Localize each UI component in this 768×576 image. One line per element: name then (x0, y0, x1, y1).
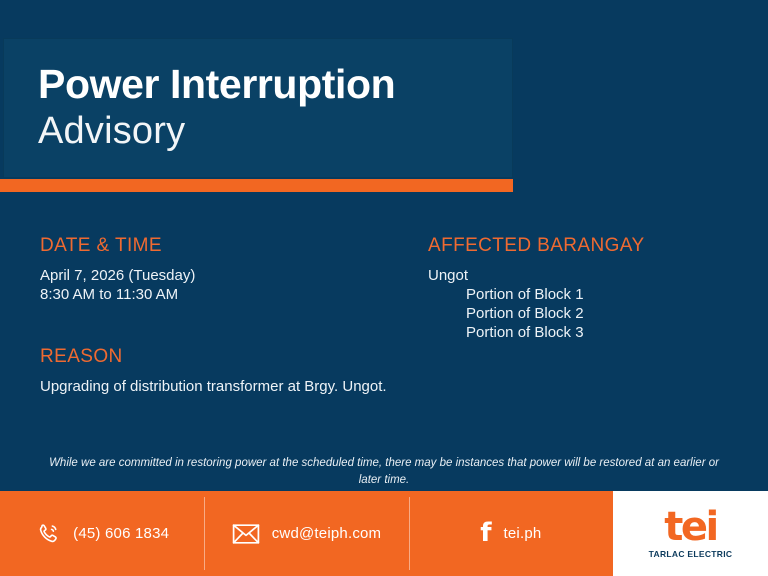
contact-facebook[interactable]: f tei.ph (409, 491, 613, 576)
reason-heading: REASON (40, 346, 390, 369)
page-subtitle: Advisory (38, 112, 185, 150)
list-item: Portion of Block 1 (466, 285, 738, 304)
advisory-poster: Power Interruption Advisory DATE & TIME … (0, 0, 768, 576)
phone-label: (45) 606 1834 (73, 525, 169, 542)
affected-barangay-heading: AFFECTED BARANGAY (428, 235, 738, 258)
logo-wordmark: tei (664, 508, 716, 546)
contact-phone[interactable]: (45) 606 1834 (0, 491, 204, 576)
reason-text: Upgrading of distribution transformer at… (40, 377, 390, 397)
barangay-name: Ungot (428, 266, 738, 285)
accent-bar (0, 179, 513, 192)
company-logo: tei TARLAC ELECTRIC (613, 491, 768, 576)
list-item: Portion of Block 2 (466, 304, 738, 323)
right-column: AFFECTED BARANGAY Ungot Portion of Block… (428, 235, 738, 343)
phone-icon (35, 521, 61, 547)
page-title: Power Interruption (38, 64, 395, 105)
envelope-icon (232, 523, 260, 545)
affected-areas-list: Portion of Block 1 Portion of Block 2 Po… (428, 285, 738, 343)
footer-contacts: (45) 606 1834 cwd@teiph.com f tei.ph (0, 491, 613, 576)
list-item: Portion of Block 3 (466, 323, 738, 342)
contact-email[interactable]: cwd@teiph.com (204, 491, 408, 576)
header-panel (3, 38, 513, 178)
date-value: April 7, 2026 (Tuesday) (40, 266, 390, 285)
disclaimer-text: While we are committed in restoring powe… (48, 455, 720, 488)
logo-tagline: TARLAC ELECTRIC (649, 549, 733, 559)
facebook-icon: f (480, 520, 491, 548)
left-column: DATE & TIME April 7, 2026 (Tuesday) 8:30… (40, 235, 390, 397)
date-time-heading: DATE & TIME (40, 235, 390, 258)
reason-group: REASON Upgrading of distribution transfo… (40, 346, 390, 397)
facebook-label: tei.ph (504, 525, 542, 542)
email-label: cwd@teiph.com (272, 525, 382, 542)
time-value: 8:30 AM to 11:30 AM (40, 285, 390, 304)
